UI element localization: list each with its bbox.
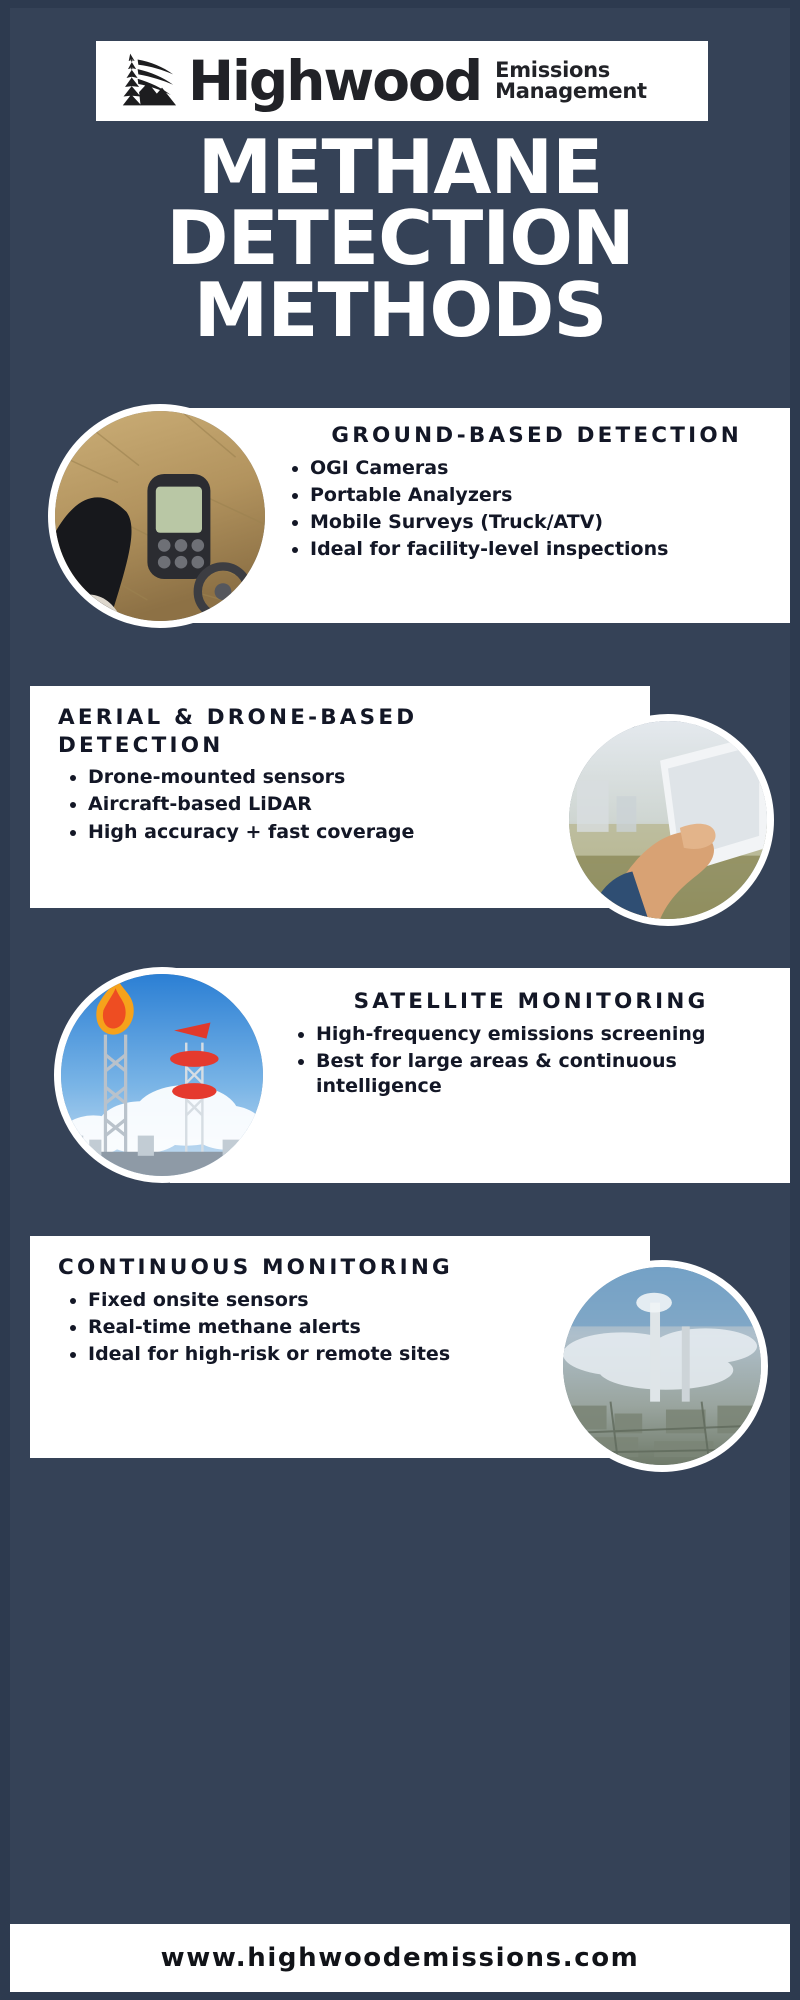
method-card-satellite: SATELLITE MONITORING High-frequency emis… [170, 968, 790, 1183]
method-card-aerial-drone-bullets: Drone-mounted sensors Aircraft-based LiD… [58, 765, 488, 845]
page-title-line-2: DETECTION [10, 203, 790, 274]
method-card-ground-based-body: GROUND-BASED DETECTION OGI Cameras Porta… [280, 422, 750, 565]
method-card-ground-based-heading: GROUND-BASED DETECTION [280, 422, 750, 450]
method-card-satellite-heading: SATELLITE MONITORING [286, 988, 756, 1016]
list-item: Ideal for high-risk or remote sites [88, 1342, 478, 1367]
list-item: Ideal for facility-level inspections [310, 537, 750, 562]
list-item: Aircraft-based LiDAR [88, 792, 488, 817]
method-card-aerial-drone-body: AERIAL & DRONE-BASED DETECTION Drone-mou… [58, 704, 488, 847]
highwood-tree-mountain-mark [108, 49, 182, 113]
list-item: Drone-mounted sensors [88, 765, 488, 790]
method-card-continuous-body: CONTINUOUS MONITORING Fixed onsite senso… [58, 1254, 478, 1369]
brand-tagline-line-1: Emissions [495, 60, 647, 81]
method-card-ground-based: GROUND-BASED DETECTION OGI Cameras Porta… [170, 408, 790, 623]
industrial-plant-aerial-haze-photo-graphic [563, 1267, 761, 1465]
list-item: High-frequency emissions screening [316, 1022, 756, 1047]
method-card-satellite-bullets: High-frequency emissions screening Best … [286, 1022, 756, 1100]
infographic-poster: Highwood Emissions Management METHANE DE… [0, 0, 800, 2000]
method-card-continuous: CONTINUOUS MONITORING Fixed onsite senso… [30, 1236, 650, 1458]
list-item: Fixed onsite sensors [88, 1288, 478, 1313]
brand-tagline-line-2: Management [495, 81, 647, 102]
page-title-line-3: METHODS [10, 275, 790, 346]
brand-logo-bar: Highwood Emissions Management [96, 41, 708, 121]
tablet-drone-control-photo-graphic [569, 721, 767, 919]
method-card-ground-based-bullets: OGI Cameras Portable Analyzers Mobile Su… [280, 456, 750, 563]
page-title: METHANE DETECTION METHODS [10, 132, 790, 346]
gas-flare-stack-photo [54, 967, 270, 1183]
brand-tagline: Emissions Management [495, 60, 647, 103]
method-card-aerial-drone: AERIAL & DRONE-BASED DETECTION Drone-mou… [30, 686, 650, 908]
ground-survey-photo-graphic [55, 411, 265, 621]
method-card-aerial-drone-heading: AERIAL & DRONE-BASED DETECTION [58, 704, 488, 759]
list-item: Real-time methane alerts [88, 1315, 478, 1340]
list-item: Mobile Surveys (Truck/ATV) [310, 510, 750, 535]
list-item: Best for large areas & continuous intell… [316, 1049, 756, 1100]
list-item: OGI Cameras [310, 456, 750, 481]
method-card-satellite-body: SATELLITE MONITORING High-frequency emis… [286, 988, 756, 1101]
ground-survey-photo [48, 404, 272, 628]
footer-bar: www.highwoodemissions.com [10, 1924, 790, 1992]
page-title-line-1: METHANE [10, 132, 790, 203]
brand-wordmark: Highwood [188, 54, 481, 109]
gas-flare-stack-photo-graphic [61, 974, 263, 1176]
footer-website-url[interactable]: www.highwoodemissions.com [161, 1943, 640, 1973]
method-card-continuous-bullets: Fixed onsite sensors Real-time methane a… [58, 1288, 478, 1368]
tablet-drone-control-photo [562, 714, 774, 926]
industrial-plant-aerial-haze-photo [556, 1260, 768, 1472]
method-card-continuous-heading: CONTINUOUS MONITORING [58, 1254, 478, 1282]
list-item: Portable Analyzers [310, 483, 750, 508]
list-item: High accuracy + fast coverage [88, 820, 488, 845]
